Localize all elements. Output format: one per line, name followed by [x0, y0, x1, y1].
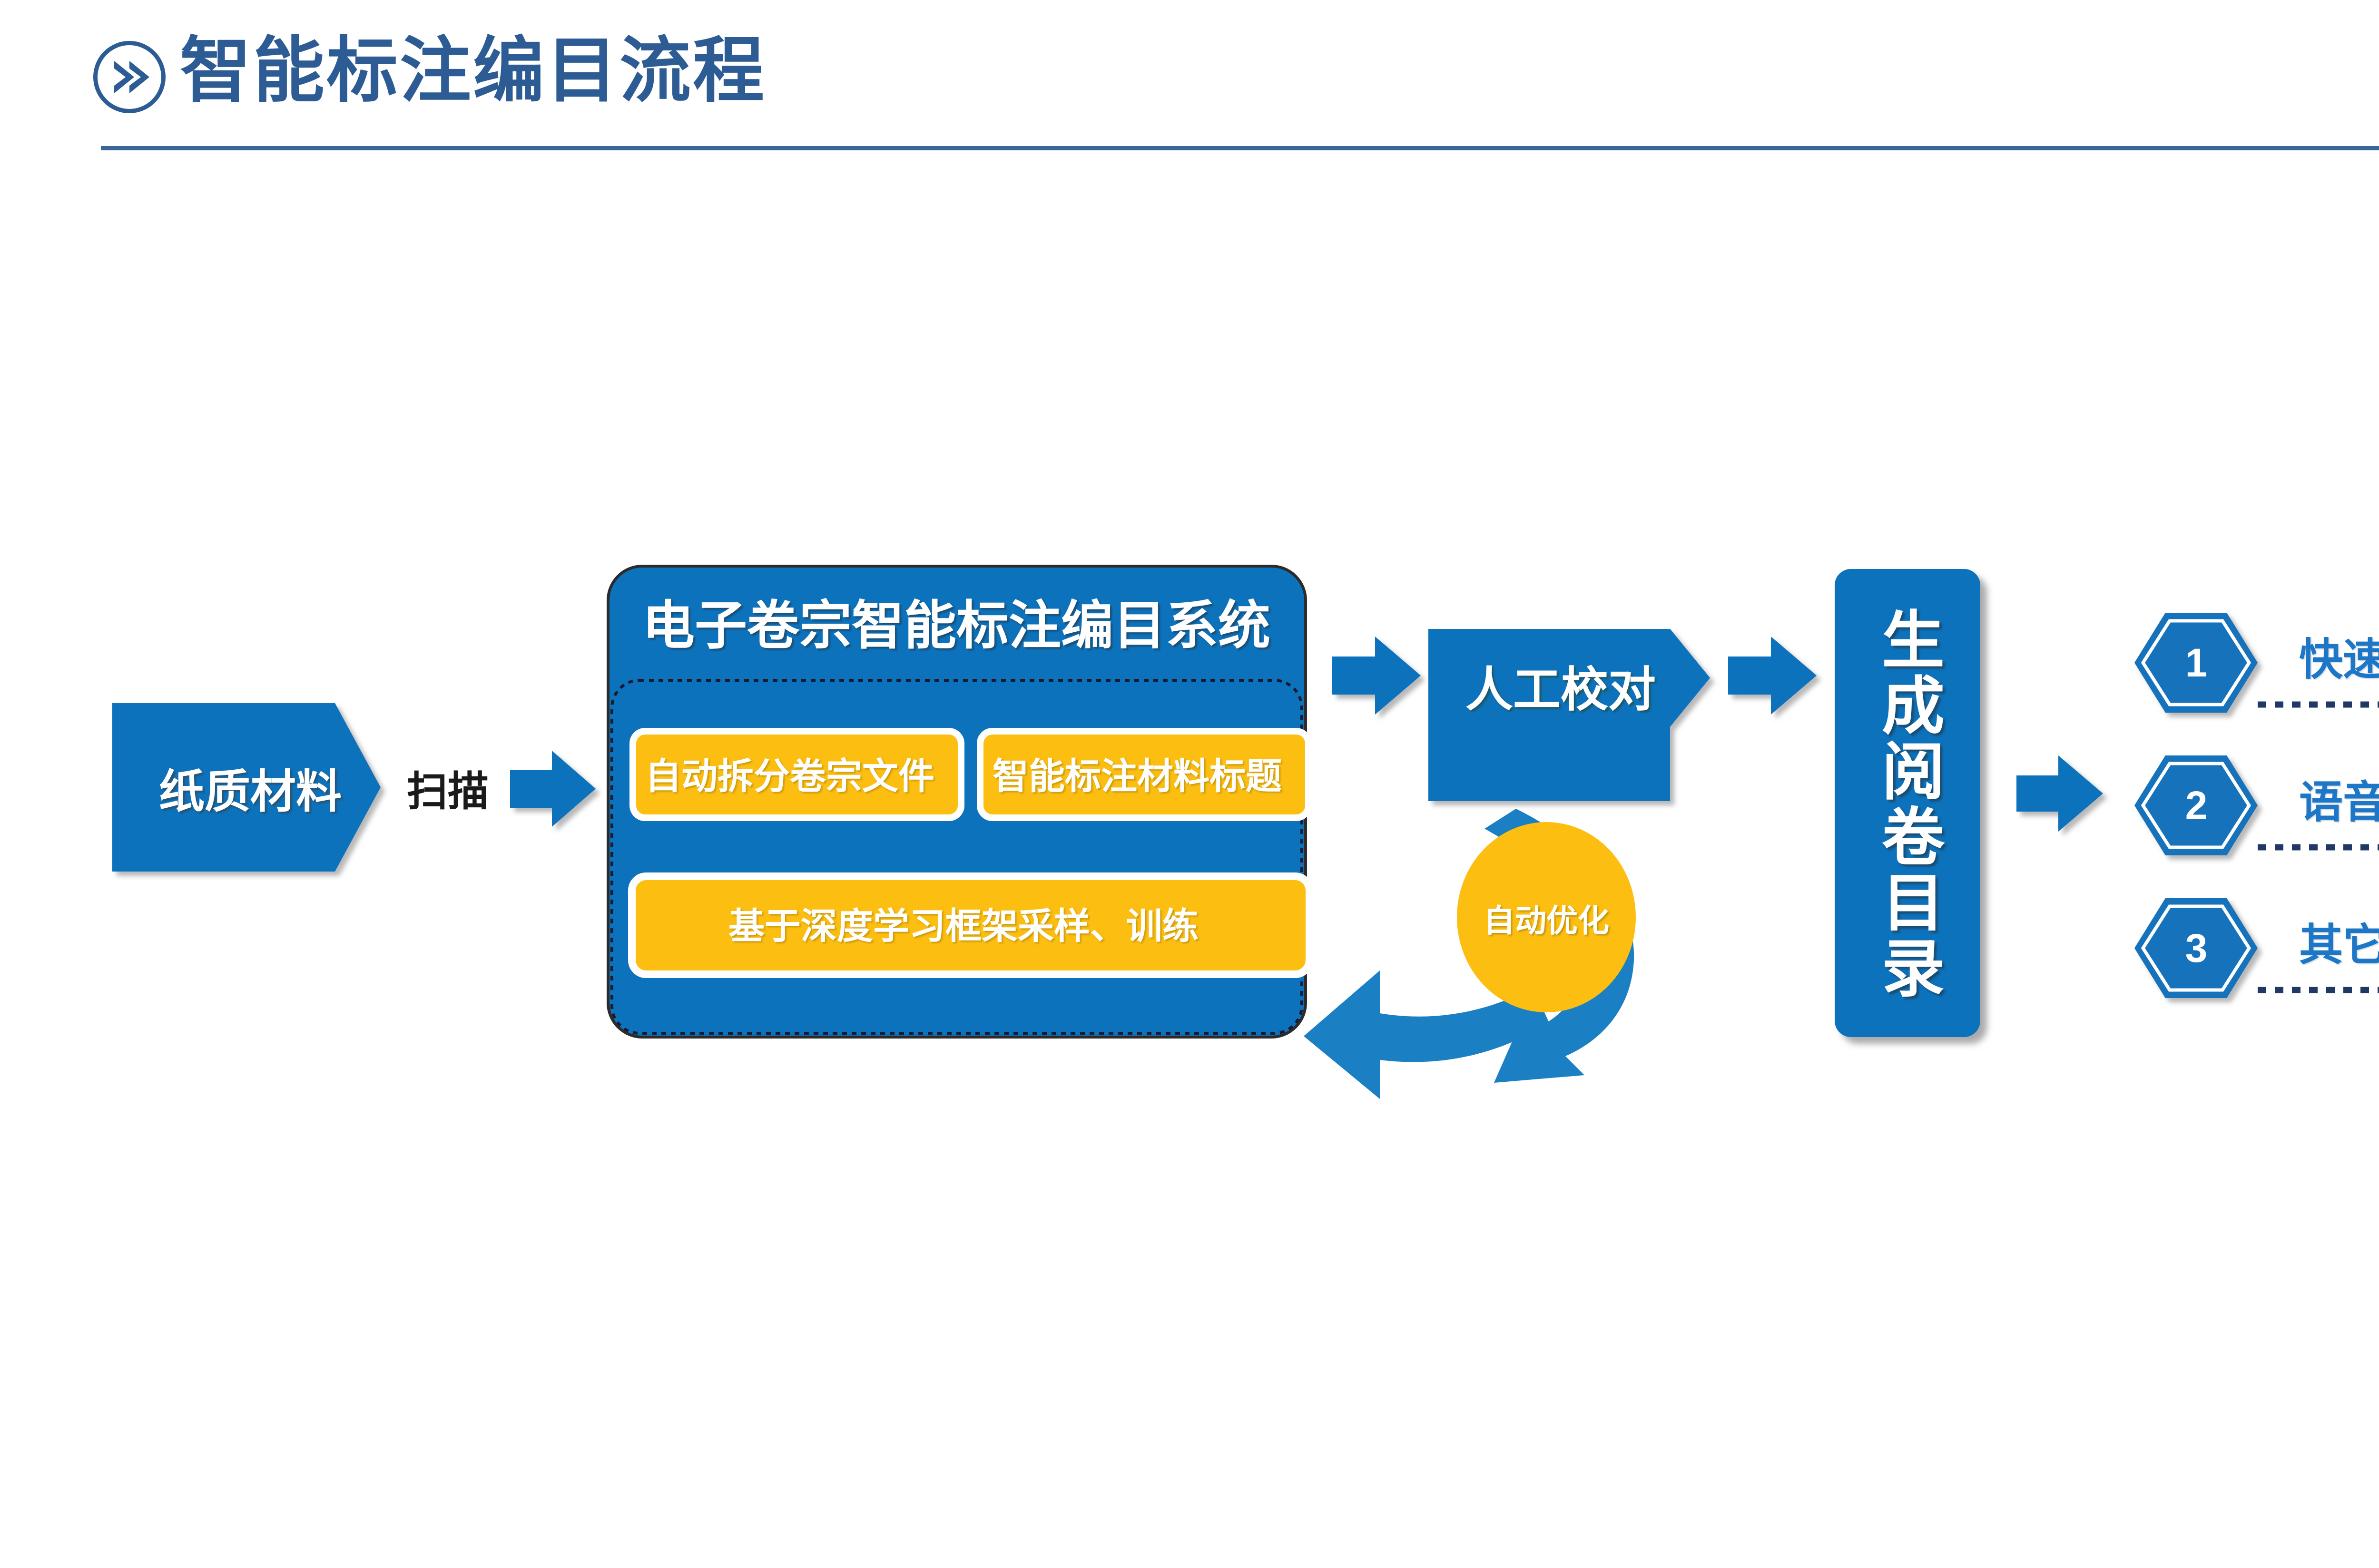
module-box-1[interactable]: [633, 731, 961, 818]
arrow-system-to-proofread: [1332, 637, 1421, 715]
arrow-output-to-benefits: [2016, 755, 2103, 832]
module-box-2[interactable]: [980, 731, 1308, 818]
diagram-shapes: [0, 0, 2379, 1568]
proofread-chevron-shape[interactable]: [1428, 629, 1710, 801]
benefit-connector-1: [2258, 694, 2379, 715]
benefit-connector-3: [2258, 979, 2379, 1001]
input-chevron-shape[interactable]: [112, 703, 381, 872]
benefit-hexagon-2[interactable]: [2134, 755, 2258, 855]
benefit-hexagon-1[interactable]: [2134, 613, 2258, 713]
benefit-connector-2: [2258, 836, 2379, 858]
arrow-proofread-to-output: [1728, 637, 1817, 715]
module-box-3[interactable]: [632, 876, 1309, 974]
benefit-hexagon-3[interactable]: [2134, 898, 2258, 998]
arrow-input-to-system: [510, 751, 596, 827]
process-flow-diagram: 纸质材料 扫描 电子卷宗智能标注编目系统 自动拆分卷宗文件 智能标注材料标题 基…: [0, 0, 2379, 1568]
output-box[interactable]: [1835, 569, 1980, 1037]
auto-optimize-ellipse[interactable]: [1457, 822, 1636, 1012]
